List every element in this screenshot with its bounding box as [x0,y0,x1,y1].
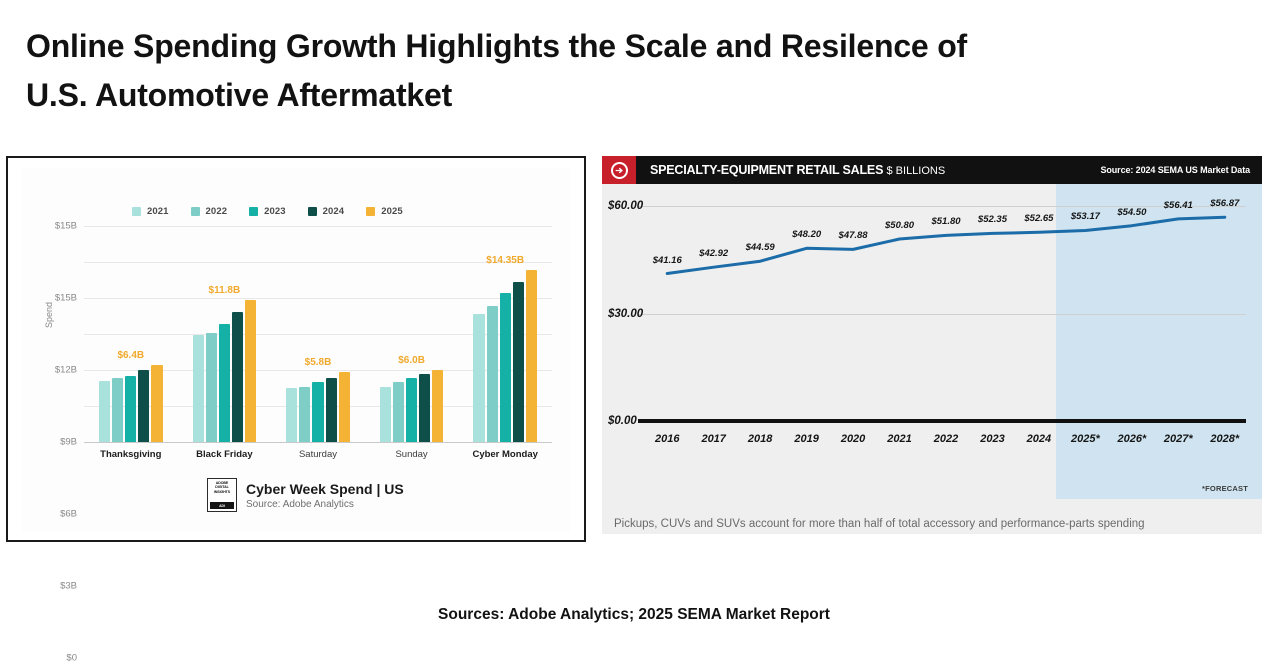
sema-x-tick-2020: 2020 [841,433,865,445]
sema-x-tick-2018: 2018 [748,433,772,445]
sema-point-label-2019: $48.20 [792,229,821,240]
sema-header-units: $ BILLIONS [887,165,946,177]
sema-chart-caption: Pickups, CUVs and SUVs account for more … [614,518,1145,530]
bar-2022-saturday[interactable] [299,387,310,442]
bar-2021-cyber-monday[interactable] [473,314,484,442]
sema-x-tick-2023: 2023 [980,433,1004,445]
sema-point-label-2023: $52.35 [978,214,1007,225]
bar-y-tick-0: $0 [66,653,77,664]
bar-2024-sunday[interactable] [419,374,430,442]
bar-x-tick-cyber-monday: Cyber Monday [472,449,537,460]
bar-chart-area: 20212022202320242025 Spend $0$3B$6B$9B$1… [22,168,570,532]
bar-2021-sunday[interactable] [380,387,391,442]
sema-line-chart-plot: *FORECAST $0.00$30.00$60.00$41.162016$42… [602,184,1262,499]
bar-2023-thanksgiving[interactable] [125,376,136,442]
legend-item-2025[interactable]: 2025 [366,206,403,217]
bar-2024-saturday[interactable] [326,378,337,442]
bar-group-black-friday: $11.8BBlack Friday [193,226,257,442]
bar-y-tick-12: $12B [55,365,77,376]
sema-point-label-2017: $42.92 [699,248,728,259]
bar-2023-cyber-monday[interactable] [500,293,511,442]
bar-x-tick-black-friday: Black Friday [196,449,253,460]
sema-header-title-text: SPECIALTY-EQUIPMENT RETAIL SALES [650,163,883,177]
bar-value-label-saturday: $5.8B [305,357,332,368]
legend-label-2023: 2023 [264,206,286,217]
bar-value-label-cyber-monday: $14.35B [486,255,524,266]
bar-chart-footer: ADOBE DIGITAL INSIGHTS ADI Cyber Week Sp… [207,478,404,512]
sema-point-label-2021: $50.80 [885,220,914,231]
bar-chart-plot: $0$3B$6B$9B$12B$15B$15B$6.4BThanksgiving… [84,226,552,442]
bar-x-tick-sunday: Sunday [395,449,427,460]
sema-trend-line [602,184,1262,499]
sema-point-label-2020: $47.88 [839,230,868,241]
legend-swatch-2022 [191,207,200,216]
sema-x-tick-2028-forecast: 2028* [1210,433,1239,445]
sema-x-tick-2022: 2022 [934,433,958,445]
bar-x-tick-saturday: Saturday [299,449,337,460]
sema-x-tick-2017: 2017 [701,433,725,445]
sema-point-label-2018: $44.59 [746,242,775,253]
sema-header-source: Source: 2024 SEMA US Market Data [1100,165,1250,175]
bar-chart-caption-source: Source: Adobe Analytics [246,499,404,510]
adobe-digital-insights-logo: ADOBE DIGITAL INSIGHTS ADI [207,478,237,512]
legend-swatch-2025 [366,207,375,216]
bar-2025-cyber-monday[interactable] [526,270,537,442]
bar-2023-black-friday[interactable] [219,324,230,442]
bar-group-sunday: $6.0BSunday [380,226,444,442]
sema-point-label-2025-forecast: $53.17 [1071,211,1100,222]
sources-line: Sources: Adobe Analytics; 2025 SEMA Mark… [0,606,1268,624]
bar-chart-y-axis-title: Spend [44,302,54,328]
bar-2025-saturday[interactable] [339,372,350,442]
legend-item-2023[interactable]: 2023 [249,206,286,217]
bar-2025-black-friday[interactable] [245,300,256,442]
sema-point-label-2022: $51.80 [931,216,960,227]
bar-2022-sunday[interactable] [393,382,404,442]
logo-line-3: INSIGHTS [214,490,230,494]
bar-y-tick-6: $6B [60,509,77,520]
bar-2024-black-friday[interactable] [232,312,243,442]
sema-header-title: SPECIALTY-EQUIPMENT RETAIL SALES $ BILLI… [650,163,945,177]
bar-x-tick-thanksgiving: Thanksgiving [100,449,161,460]
bar-2022-black-friday[interactable] [206,333,217,442]
legend-label-2021: 2021 [147,206,169,217]
bar-2024-cyber-monday[interactable] [513,282,524,442]
bar-y-tick-15: $15B [55,293,77,304]
legend-item-2024[interactable]: 2024 [308,206,345,217]
bar-chart-caption-title: Cyber Week Spend | US [246,481,404,497]
adobe-cyber-week-chart-panel: 20212022202320242025 Spend $0$3B$6B$9B$1… [6,156,586,542]
bar-2021-saturday[interactable] [286,388,297,442]
bar-chart-legend: 20212022202320242025 [132,206,403,217]
bar-2025-thanksgiving[interactable] [151,365,162,442]
sema-x-tick-2021: 2021 [887,433,911,445]
bar-2021-black-friday[interactable] [193,335,204,442]
legend-item-2022[interactable]: 2022 [191,206,228,217]
bar-2021-thanksgiving[interactable] [99,381,110,442]
circle-arrow-right-icon [611,162,628,179]
sema-retail-sales-panel: SPECIALTY-EQUIPMENT RETAIL SALES $ BILLI… [602,156,1262,534]
bar-2024-thanksgiving[interactable] [138,370,149,442]
page-title-line-2: U.S. Automotive Aftermatket [26,71,1146,120]
bar-value-label-thanksgiving: $6.4B [117,350,144,361]
bar-group-saturday: $5.8BSaturday [286,226,350,442]
bar-group-thanksgiving: $6.4BThanksgiving [99,226,163,442]
sema-point-label-2016: $41.16 [653,255,682,266]
bar-group-cyber-monday: $14.35BCyber Monday [473,226,537,442]
sema-x-tick-2027-forecast: 2027* [1164,433,1193,445]
bar-chart-caption: Cyber Week Spend | US Source: Adobe Anal… [246,481,404,510]
bar-2022-thanksgiving[interactable] [112,378,123,442]
bar-value-label-black-friday: $11.8B [209,285,241,296]
sema-x-tick-2016: 2016 [655,433,679,445]
page-title-line-1: Online Spending Growth Highlights the Sc… [26,22,1146,71]
bar-2022-cyber-monday[interactable] [487,306,498,442]
bar-2025-sunday[interactable] [432,370,443,442]
legend-swatch-2021 [132,207,141,216]
legend-label-2025: 2025 [381,206,403,217]
sema-arrow-badge [602,156,636,184]
sema-header-bar: SPECIALTY-EQUIPMENT RETAIL SALES $ BILLI… [602,156,1262,184]
sema-point-label-2026-forecast: $54.50 [1117,207,1146,218]
bar-value-label-sunday: $6.0B [398,355,425,366]
legend-swatch-2023 [249,207,258,216]
page-title: Online Spending Growth Highlights the Sc… [26,22,1146,119]
sema-x-tick-2026-forecast: 2026* [1117,433,1146,445]
bar-y-tick-9: $9B [60,437,77,448]
legend-label-2022: 2022 [206,206,228,217]
bar-y-tick-18: $15B [55,221,77,232]
logo-badge: ADI [210,502,234,509]
sema-x-tick-2025-forecast: 2025* [1071,433,1100,445]
bar-2023-saturday[interactable] [312,382,323,442]
sema-x-tick-2019: 2019 [794,433,818,445]
bar-2023-sunday[interactable] [406,378,417,442]
bar-gridline-0: $0 [84,442,552,443]
legend-item-2021[interactable]: 2021 [132,206,169,217]
legend-label-2024: 2024 [323,206,345,217]
sema-point-label-2027-forecast: $56.41 [1164,200,1193,211]
bar-y-tick-3: $3B [60,581,77,592]
legend-swatch-2024 [308,207,317,216]
sema-point-label-2024: $52.65 [1024,213,1053,224]
sema-point-label-2028-forecast: $56.87 [1210,198,1239,209]
sema-x-tick-2024: 2024 [1027,433,1051,445]
